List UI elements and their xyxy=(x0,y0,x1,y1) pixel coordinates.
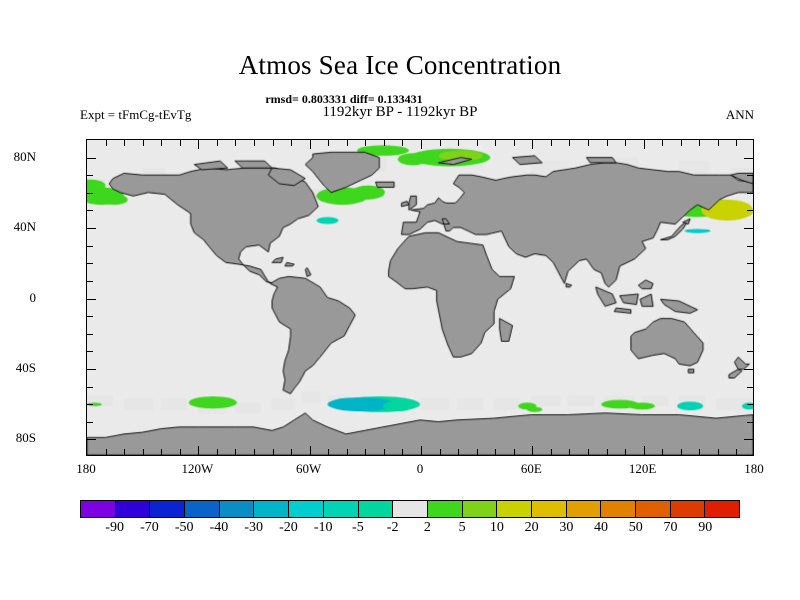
colorbar-tick-label: 50 xyxy=(629,521,643,535)
x-axis-tick xyxy=(106,449,107,455)
y-axis-tick xyxy=(87,193,93,194)
y-axis-tick xyxy=(87,422,93,423)
x-axis-tick-top xyxy=(440,140,441,146)
x-axis-tick-top xyxy=(402,140,403,146)
colorbar-swatch-11 xyxy=(463,501,498,517)
colorbar-tick-label: 30 xyxy=(559,521,573,535)
x-axis-tick-top xyxy=(143,140,144,146)
colorbar-swatch-12 xyxy=(497,501,532,517)
x-axis-tick-top xyxy=(198,140,199,149)
y-axis-tick-right xyxy=(747,387,753,388)
x-axis-tick-top xyxy=(718,140,719,146)
x-axis-tick xyxy=(681,449,682,455)
x-axis-tick-top xyxy=(291,140,292,146)
x-axis-tick-top xyxy=(551,140,552,146)
colorbar xyxy=(80,500,740,518)
y-axis-tick xyxy=(87,439,96,440)
x-axis-label: 120E xyxy=(629,462,656,475)
colorbar-swatch-6 xyxy=(289,501,324,517)
colorbar-tick-label: 2 xyxy=(424,521,431,535)
y-axis-tick-right xyxy=(744,439,753,440)
colorbar-tick-label: 10 xyxy=(490,521,504,535)
y-axis-tick-right xyxy=(747,316,753,317)
x-axis-tick xyxy=(551,449,552,455)
world-map-canvas xyxy=(87,140,753,455)
y-axis-tick-right xyxy=(747,175,753,176)
colorbar-swatch-16 xyxy=(636,501,671,517)
colorbar-swatch-0 xyxy=(81,501,116,517)
y-axis-tick xyxy=(87,316,93,317)
x-axis-tick xyxy=(291,449,292,455)
x-axis-label: 120W xyxy=(181,462,213,475)
colorbar-swatch-3 xyxy=(185,501,220,517)
experiment-label: Expt = tFmCg-tEvTg xyxy=(80,107,191,123)
y-axis-tick xyxy=(87,281,93,282)
y-axis-tick-right xyxy=(747,210,753,211)
colorbar-swatch-10 xyxy=(428,501,463,517)
colorbar-swatch-4 xyxy=(220,501,255,517)
figure-canvas: Atmos Sea Ice Concentration rmsd= 0.8033… xyxy=(0,0,800,600)
colorbar-swatch-7 xyxy=(324,501,359,517)
x-axis-tick xyxy=(254,449,255,455)
colorbar-tick-label: -5 xyxy=(352,521,364,535)
colorbar-tick-label: -90 xyxy=(105,521,124,535)
colorbar-tick-label: 20 xyxy=(525,521,539,535)
x-axis-label: 180 xyxy=(76,462,96,475)
x-axis-tick xyxy=(273,449,274,455)
x-axis-tick xyxy=(607,449,608,455)
x-axis-tick-top xyxy=(644,140,645,149)
x-axis-tick-top xyxy=(532,140,533,149)
x-axis-tick xyxy=(310,446,311,455)
colorbar-swatch-13 xyxy=(532,501,567,517)
x-axis-tick-top xyxy=(514,140,515,146)
x-axis-tick-top xyxy=(736,140,737,146)
x-axis-tick xyxy=(217,449,218,455)
y-axis-tick-right xyxy=(747,334,753,335)
x-axis-tick-top xyxy=(495,140,496,146)
y-axis-tick xyxy=(87,351,93,352)
x-axis-tick-top xyxy=(699,140,700,146)
x-axis-tick xyxy=(736,449,737,455)
x-axis-tick-top xyxy=(384,140,385,146)
x-axis-tick-top xyxy=(254,140,255,146)
colorbar-tick-label: -30 xyxy=(244,521,263,535)
y-axis-tick-right xyxy=(744,299,753,300)
x-axis-tick-top xyxy=(235,140,236,146)
y-axis-tick xyxy=(87,334,93,335)
map-plot-area xyxy=(86,139,754,456)
colorbar-tick-label: -40 xyxy=(210,521,229,535)
x-axis-tick xyxy=(143,449,144,455)
x-axis-tick xyxy=(161,449,162,455)
x-axis-tick xyxy=(588,449,589,455)
x-axis-tick-top xyxy=(124,140,125,146)
x-axis-tick-top xyxy=(477,140,478,146)
x-axis-tick-top xyxy=(421,140,422,149)
page-title: Atmos Sea Ice Concentration xyxy=(0,50,800,81)
x-axis-tick xyxy=(569,449,570,455)
colorbar-swatch-8 xyxy=(359,501,394,517)
x-axis-tick-top xyxy=(607,140,608,146)
y-axis-tick-right xyxy=(744,228,753,229)
y-axis-tick-right xyxy=(744,369,753,370)
x-axis-tick xyxy=(198,446,199,455)
x-axis-tick xyxy=(402,449,403,455)
x-axis-tick-top xyxy=(662,140,663,146)
colorbar-swatch-15 xyxy=(601,501,636,517)
x-axis-tick xyxy=(662,449,663,455)
y-axis-tick xyxy=(87,369,96,370)
x-axis-label: 60W xyxy=(296,462,321,475)
y-axis-tick-right xyxy=(747,193,753,194)
x-axis-tick-top xyxy=(681,140,682,146)
x-axis-tick xyxy=(384,449,385,455)
y-axis-tick xyxy=(87,404,93,405)
colorbar-swatch-1 xyxy=(116,501,151,517)
colorbar-swatch-17 xyxy=(671,501,706,517)
x-axis-tick xyxy=(514,449,515,455)
x-axis-tick-top xyxy=(347,140,348,146)
x-axis-label: 60E xyxy=(521,462,542,475)
x-axis-tick-top xyxy=(180,140,181,146)
x-axis-tick xyxy=(718,449,719,455)
colorbar-tick-label: -10 xyxy=(314,521,333,535)
y-axis-tick xyxy=(87,175,93,176)
colorbar-tick-label: -50 xyxy=(175,521,194,535)
y-axis-tick xyxy=(87,228,96,229)
colorbar-swatch-9 xyxy=(393,501,428,517)
colorbar-swatch-2 xyxy=(150,501,185,517)
colorbar-tick-label: -2 xyxy=(387,521,399,535)
x-axis-tick-top xyxy=(217,140,218,146)
x-axis-tick xyxy=(644,446,645,455)
y-axis-tick xyxy=(87,263,93,264)
x-axis-tick xyxy=(699,449,700,455)
y-axis-tick-right xyxy=(744,158,753,159)
x-axis-tick xyxy=(365,449,366,455)
colorbar-tick-label: 40 xyxy=(594,521,608,535)
colorbar-tick-label: 5 xyxy=(459,521,466,535)
x-axis-tick xyxy=(477,449,478,455)
x-axis-tick-top xyxy=(310,140,311,149)
colorbar-tick-label: -70 xyxy=(140,521,159,535)
y-axis-tick-right xyxy=(747,351,753,352)
x-axis-tick-top xyxy=(161,140,162,146)
y-axis-label: 80S xyxy=(0,431,36,444)
y-axis-tick-right xyxy=(747,422,753,423)
x-axis-tick-top xyxy=(588,140,589,146)
y-axis-tick-right xyxy=(747,263,753,264)
colorbar-swatch-5 xyxy=(254,501,289,517)
colorbar-swatches xyxy=(80,500,740,518)
x-axis-tick xyxy=(124,449,125,455)
x-axis-tick-top xyxy=(569,140,570,146)
colorbar-tick-label: 70 xyxy=(664,521,678,535)
x-axis-label: 180 xyxy=(744,462,764,475)
colorbar-swatch-18 xyxy=(705,501,739,517)
y-axis-tick xyxy=(87,299,96,300)
y-axis-tick xyxy=(87,158,96,159)
x-axis-tick-top xyxy=(365,140,366,146)
y-axis-tick xyxy=(87,387,93,388)
x-axis-tick xyxy=(328,449,329,455)
y-axis-tick xyxy=(87,210,93,211)
x-axis-tick xyxy=(625,449,626,455)
x-axis-tick-top xyxy=(625,140,626,146)
y-axis-tick-right xyxy=(747,404,753,405)
y-axis-label: 40S xyxy=(0,361,36,374)
season-label: ANN xyxy=(726,107,754,123)
colorbar-tick-label: -20 xyxy=(279,521,298,535)
x-axis-tick xyxy=(458,449,459,455)
x-axis-tick xyxy=(495,449,496,455)
colorbar-tick-label: 90 xyxy=(698,521,712,535)
x-axis-tick-top xyxy=(458,140,459,146)
x-axis-tick xyxy=(180,449,181,455)
x-axis-tick-top xyxy=(328,140,329,146)
x-axis-tick-top xyxy=(106,140,107,146)
y-axis-tick-right xyxy=(747,281,753,282)
x-axis-tick xyxy=(532,446,533,455)
y-axis-tick xyxy=(87,246,93,247)
y-axis-tick-right xyxy=(747,246,753,247)
y-axis-label: 0 xyxy=(0,291,36,304)
y-axis-label: 80N xyxy=(0,150,36,163)
x-axis-tick-top xyxy=(273,140,274,146)
y-axis-label: 40N xyxy=(0,220,36,233)
colorbar-swatch-14 xyxy=(567,501,602,517)
x-axis-tick xyxy=(421,446,422,455)
x-axis-label: 0 xyxy=(417,462,424,475)
x-axis-tick xyxy=(347,449,348,455)
x-axis-tick xyxy=(235,449,236,455)
x-axis-tick xyxy=(440,449,441,455)
